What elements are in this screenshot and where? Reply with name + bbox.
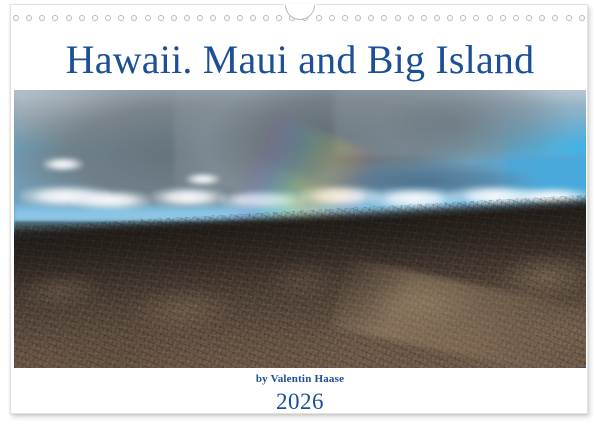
page-title: Hawaii. Maui and Big Island: [0, 40, 600, 80]
calendar-cover: Hawaii. Maui and Big Island: [0, 0, 600, 432]
cover-photo: [14, 90, 586, 368]
lava-field: [14, 90, 586, 368]
author-byline: by Valentin Haase: [14, 374, 586, 385]
calendar-year: 2026: [14, 390, 586, 413]
cover-caption: by Valentin Haase 2026: [14, 368, 586, 412]
